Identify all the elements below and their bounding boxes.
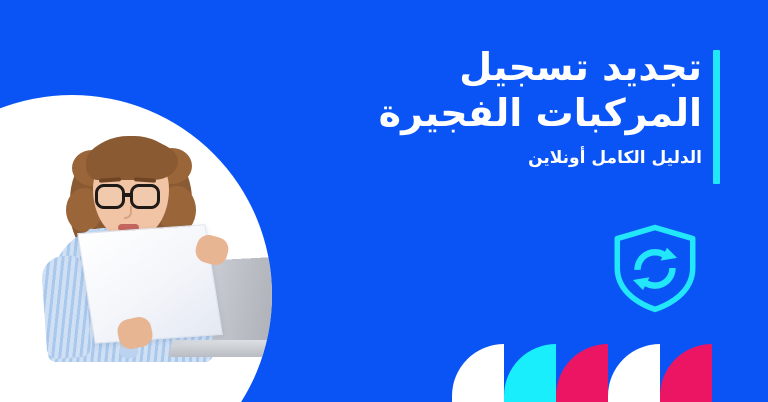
glasses-bridge — [124, 193, 132, 197]
decorative-bar-4 — [608, 344, 660, 402]
decorative-bar-2 — [504, 344, 556, 402]
hair-fringe — [86, 140, 178, 180]
photo-circle — [0, 95, 272, 402]
glasses-lens-right — [130, 184, 160, 209]
woman-reading-document-photo — [0, 95, 272, 402]
promo-banner: تجديد تسجيل المركبات الفجيرة الدليل الكا… — [0, 0, 768, 402]
decorative-bar-3 — [556, 344, 608, 402]
laptop-base — [167, 340, 272, 357]
photo-stage — [0, 95, 272, 402]
decorative-bars — [452, 344, 712, 402]
decorative-bar-5 — [660, 344, 712, 402]
accent-bar — [713, 50, 720, 184]
headline-block: تجديد تسجيل المركبات الفجيرة الدليل الكا… — [360, 44, 720, 169]
headline-line-2: المركبات الفجيرة — [360, 90, 702, 136]
glasses-lens-left — [95, 184, 125, 209]
shield-renew-icon — [608, 222, 702, 314]
page-title: تجديد تسجيل المركبات الفجيرة — [360, 44, 702, 137]
subheadline: الدليل الكامل أونلاين — [360, 147, 702, 169]
decorative-bar-1 — [452, 344, 504, 402]
headline-line-1: تجديد تسجيل — [360, 44, 702, 90]
